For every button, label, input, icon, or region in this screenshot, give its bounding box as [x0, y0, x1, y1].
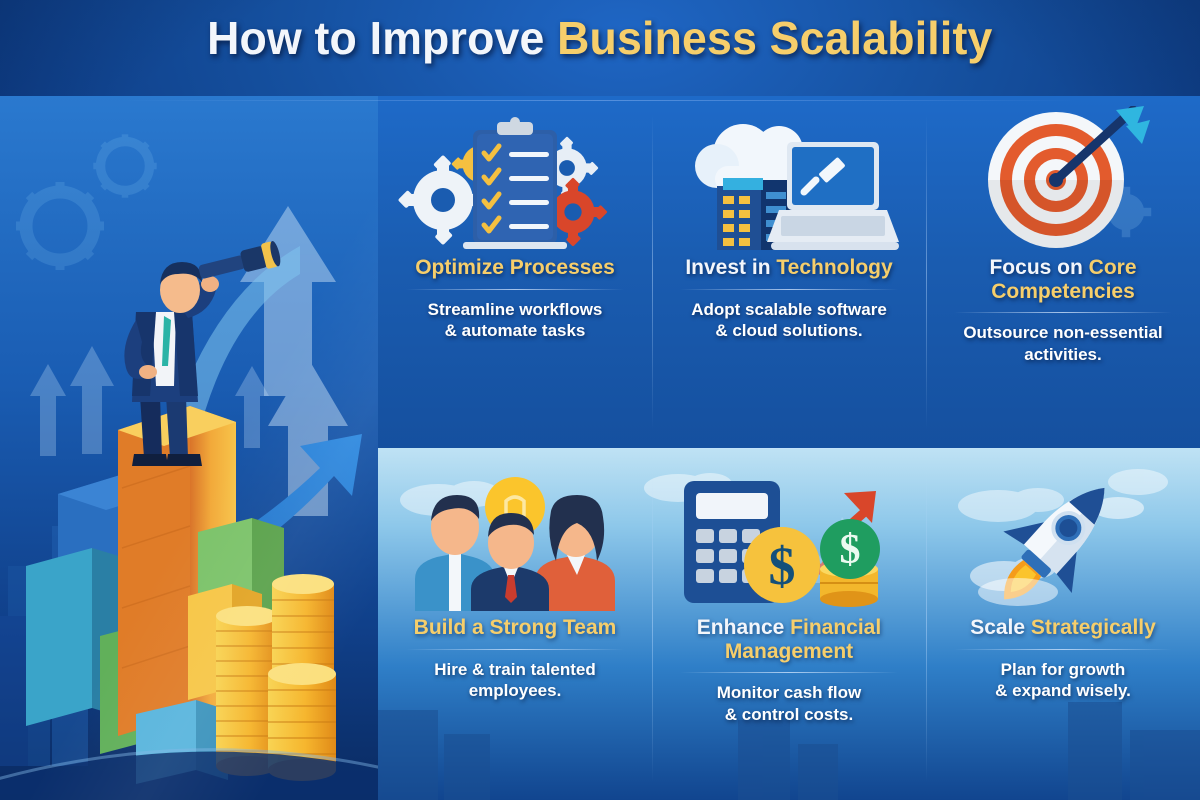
card-title-gold: Technology [776, 256, 892, 279]
card-description-line1: Monitor cash flow [662, 682, 916, 704]
card-title-white: Invest in [685, 256, 776, 279]
card-title: Optimize Processes [388, 256, 642, 280]
card-description: Adopt scalable software & cloud solution… [662, 299, 916, 343]
card-title-white: Scale [970, 616, 1031, 639]
card-divider [954, 649, 1172, 650]
card-description-line1: Outsource non-essential [936, 322, 1190, 344]
card-invest-in-technology[interactable]: Invest in Technology Adopt scalable soft… [652, 96, 926, 448]
page-title-primary: How to Improve [207, 12, 557, 64]
card-description-line2: employees. [388, 680, 642, 702]
page-title: How to Improve Business Scalability [0, 14, 1200, 62]
card-title: Focus on Core Competencies [936, 256, 1190, 303]
team-people-lightbulb-icon [378, 464, 652, 612]
card-title-gold: Strategically [1031, 616, 1156, 639]
dollar-gold-icon: $ [744, 527, 820, 603]
card-description-line2: & cloud solutions. [662, 320, 916, 342]
card-description: Streamline workflows & automate tasks [388, 299, 642, 343]
infographic-canvas: How to Improve Business Scalability [0, 0, 1200, 800]
tips-grid: Optimize Processes Streamline workflows … [378, 96, 1200, 800]
target-arrow-bullseye-icon [926, 106, 1200, 256]
clipboard-checklist-gears-icon [378, 106, 652, 256]
card-description-line2: & expand wisely. [936, 680, 1190, 702]
card-description: Monitor cash flow & control costs. [662, 682, 916, 726]
card-description-line1: Streamline workflows [388, 299, 642, 321]
card-scale-strategically[interactable]: Scale Strategically Plan for growth & ex… [926, 448, 1200, 800]
card-title-white: Enhance [697, 616, 790, 639]
row-divider [386, 448, 1192, 449]
card-description: Plan for growth & expand wisely. [936, 659, 1190, 703]
card-divider [954, 312, 1172, 313]
card-title: Invest in Technology [662, 256, 916, 280]
card-description-line1: Plan for growth [936, 659, 1190, 681]
card-focus-on-core-competencies[interactable]: Focus on Core Competencies Outsource non… [926, 96, 1200, 448]
card-description-line1: Adopt scalable software [662, 299, 916, 321]
clipboard-icon [463, 117, 567, 249]
rocket-launch-icon [926, 464, 1200, 612]
page-title-accent: Business Scalability [557, 12, 992, 64]
card-title: Enhance Financial Management [662, 616, 916, 663]
card-description: Hire & train talented employees. [388, 659, 642, 703]
cloud-server-laptop-icon [652, 106, 926, 256]
calculator-money-growth-icon: $ $ [652, 464, 926, 612]
svg-text:$: $ [769, 536, 796, 596]
card-description-line1: Hire & train talented [388, 659, 642, 681]
card-build-a-strong-team[interactable]: Build a Strong Team Hire & train talente… [378, 448, 652, 800]
card-divider [680, 672, 898, 673]
dollar-green-icon: $ [820, 519, 880, 579]
card-title: Scale Strategically [936, 616, 1190, 640]
tips-row-bottom: Build a Strong Team Hire & train talente… [378, 448, 1200, 800]
svg-text:$: $ [840, 527, 861, 573]
card-title-gold: Optimize Processes [415, 256, 615, 279]
card-title-white: Focus on [989, 256, 1088, 279]
card-description-line2: & automate tasks [388, 320, 642, 342]
card-optimize-processes[interactable]: Optimize Processes Streamline workflows … [378, 96, 652, 448]
card-title: Build a Strong Team [388, 616, 642, 640]
card-divider [680, 289, 898, 290]
card-divider [406, 289, 624, 290]
card-enhance-financial-management[interactable]: $ $ Enhance Financial Management [652, 448, 926, 800]
title-divider [120, 100, 1080, 101]
card-description: Outsource non-essential activities. [936, 322, 1190, 366]
tips-row-top: Optimize Processes Streamline workflows … [378, 96, 1200, 448]
card-description-line2: & control costs. [662, 704, 916, 726]
hero-illustration [0, 96, 378, 800]
card-divider [406, 649, 624, 650]
card-description-line2: activities. [936, 344, 1190, 366]
card-title-gold: Build a Strong Team [414, 616, 617, 639]
